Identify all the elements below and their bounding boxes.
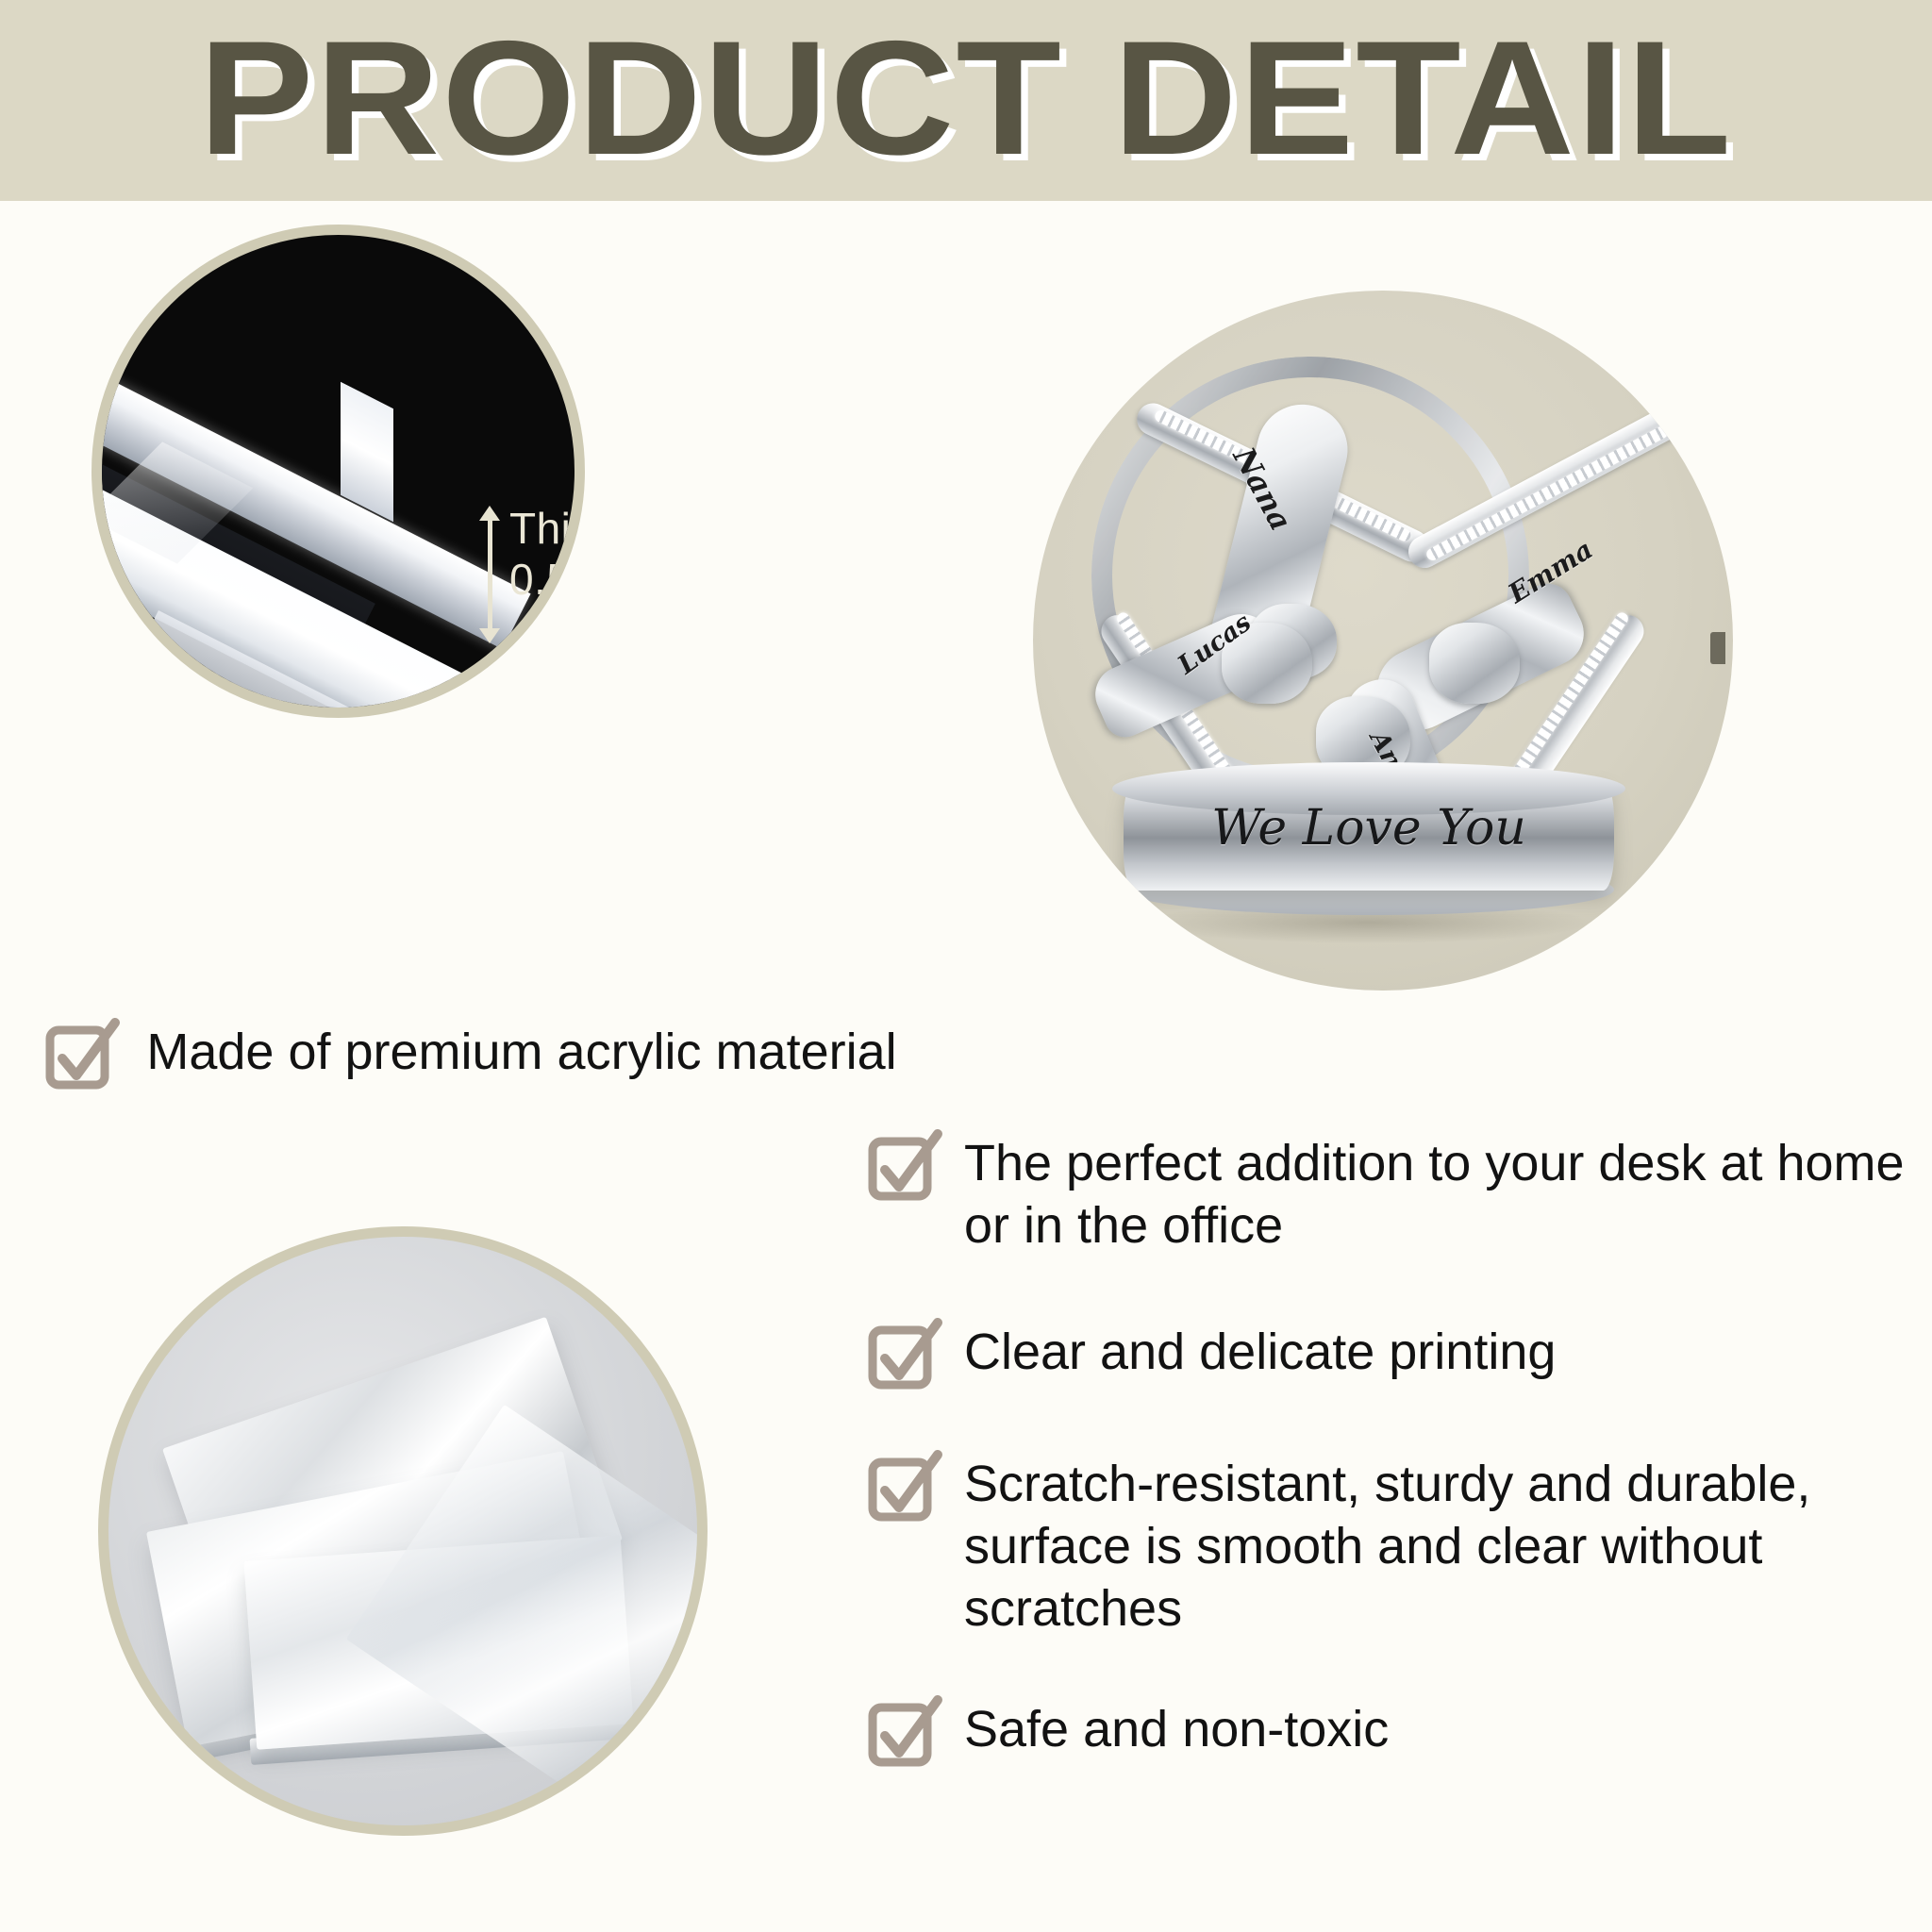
page-title: PRODUCT DETAIL [0, 13, 1932, 183]
acrylic-slabs-photo [98, 1226, 708, 1836]
checkbox-checked-icon [868, 1698, 940, 1770]
thickness-label-line2: 0.55 in [509, 554, 585, 605]
arrow-head-down-icon [479, 628, 500, 643]
acrylic-edge-photo: Thickness 0.55 in [92, 225, 585, 718]
feature-item-printing: Clear and delicate printing [868, 1321, 1915, 1392]
checkbox-checked-icon [868, 1132, 940, 1204]
feature-item-safe: Safe and non-toxic [868, 1698, 1915, 1770]
feature-label: Made of premium acrylic material [142, 1021, 902, 1083]
checkbox-checked-icon [868, 1453, 940, 1524]
photo-edge-notch [1710, 632, 1725, 664]
arrow-shaft [488, 517, 492, 632]
feature-label: Safe and non-toxic [964, 1698, 1389, 1760]
feature-item-desk: The perfect addition to your desk at hom… [868, 1132, 1915, 1257]
acrylic-slab-stack [108, 1237, 697, 1825]
checkbox-checked-icon [45, 1021, 117, 1092]
feature-label: Scratch-resistant, sturdy and durable, s… [964, 1453, 1915, 1640]
vertical-double-arrow-icon [477, 506, 502, 643]
feature-item-scratch: Scratch-resistant, sturdy and durable, s… [868, 1453, 1915, 1640]
heart-hands-ornament: Nana Lucas Emma Andy We Love You [1033, 291, 1733, 991]
acrylic-block-illustration [102, 235, 575, 708]
thickness-callout: Thickness 0.55 in [509, 503, 585, 605]
thickness-label-line1: Thickness [509, 503, 585, 554]
fist-emma [1429, 623, 1520, 704]
feature-label: Clear and delicate printing [964, 1321, 1556, 1383]
product-photo: Nana Lucas Emma Andy We Love You [1033, 291, 1733, 991]
checkbox-checked-icon [868, 1321, 940, 1392]
feature-item-material: Made of premium acrylic material [45, 1021, 913, 1092]
feature-label: The perfect addition to your desk at hom… [964, 1132, 1915, 1257]
base-engraving: We Love You [1124, 800, 1614, 857]
